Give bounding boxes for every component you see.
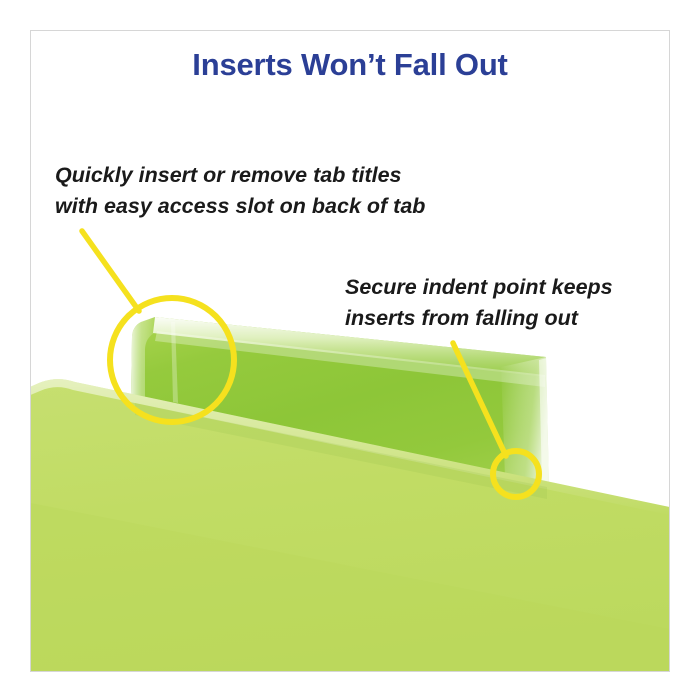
callout-access-slot-text: Quickly insert or remove tab titles with… (55, 160, 425, 222)
callout-access-slot-line2: with easy access slot on back of tab (55, 191, 425, 222)
callout-indent-point-line2: inserts from falling out (345, 303, 613, 334)
product-photo (31, 31, 669, 671)
callout-indent-point-line1: Secure indent point keeps (345, 272, 613, 303)
callout-indent-point-text: Secure indent point keeps inserts from f… (345, 272, 613, 334)
photo-frame (30, 30, 670, 672)
page-title: Inserts Won’t Fall Out (30, 48, 670, 82)
product-feature-callout-image: Inserts Won’t Fall Out Quickly insert or… (0, 0, 700, 700)
callout-access-slot-line1: Quickly insert or remove tab titles (55, 160, 425, 191)
